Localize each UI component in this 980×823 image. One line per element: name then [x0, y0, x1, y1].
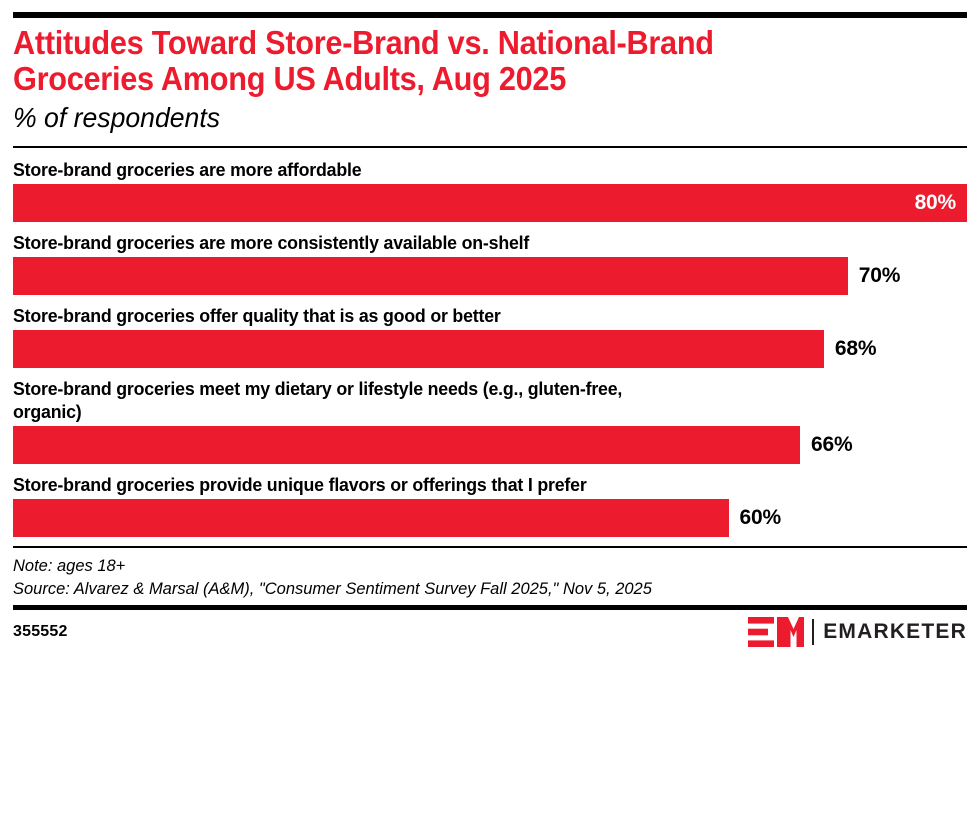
bar-category-label: Store-brand groceries are more affordabl…: [13, 158, 929, 181]
page-title: Attitudes Toward Store-Brand vs. Nationa…: [13, 25, 900, 97]
chart-footer: 355552 EMARKETER: [13, 610, 967, 647]
chart-card: Attitudes Toward Store-Brand vs. Nationa…: [0, 12, 980, 823]
chart-header: Attitudes Toward Store-Brand vs. Nationa…: [13, 18, 967, 146]
bar: [13, 426, 800, 464]
bar-group: Store-brand groceries meet my dietary or…: [13, 377, 967, 464]
chart-footnotes: Note: ages 18+ Source: Alvarez & Marsal …: [13, 548, 967, 605]
bar-category-label: Store-brand groceries offer quality that…: [13, 304, 929, 327]
bar-row: 66%: [13, 426, 967, 464]
chart-subtitle: % of respondents: [13, 101, 919, 135]
note-line: Note: ages 18+: [13, 554, 938, 577]
source-line: Source: Alvarez & Marsal (A&M), "Consume…: [13, 577, 938, 600]
bar: [13, 257, 848, 295]
bar-category-label: Store-brand groceries provide unique fla…: [13, 473, 929, 496]
chart-id-number: 355552: [13, 623, 68, 641]
bar-row: 80%: [13, 184, 967, 222]
bar-group: Store-brand groceries offer quality that…: [13, 304, 967, 368]
brand-divider: [812, 619, 814, 645]
bar-row: 60%: [13, 499, 967, 537]
bar: [13, 499, 729, 537]
bar-value-label: 70%: [848, 264, 900, 288]
bar-value-label: 60%: [729, 506, 781, 530]
bar: 80%: [13, 184, 967, 222]
bar-category-label: Store-brand groceries are more consisten…: [13, 231, 929, 254]
bar-chart-plot: Store-brand groceries are more affordabl…: [13, 148, 967, 537]
bar-category-label: Store-brand groceries meet my dietary or…: [13, 377, 929, 423]
bar-row: 70%: [13, 257, 967, 295]
em-logo-icon: [748, 617, 804, 647]
bar-row: 68%: [13, 330, 967, 368]
bar-group: Store-brand groceries are more consisten…: [13, 231, 967, 295]
bar-value-label: 68%: [824, 337, 876, 361]
brand-lockup: EMARKETER: [748, 617, 967, 647]
bar-group: Store-brand groceries are more affordabl…: [13, 158, 967, 222]
brand-wordmark: EMARKETER: [823, 620, 967, 644]
bar: [13, 330, 824, 368]
bar-value-label: 80%: [915, 191, 967, 215]
bar-value-label: 66%: [800, 433, 852, 457]
bar-group: Store-brand groceries provide unique fla…: [13, 473, 967, 537]
